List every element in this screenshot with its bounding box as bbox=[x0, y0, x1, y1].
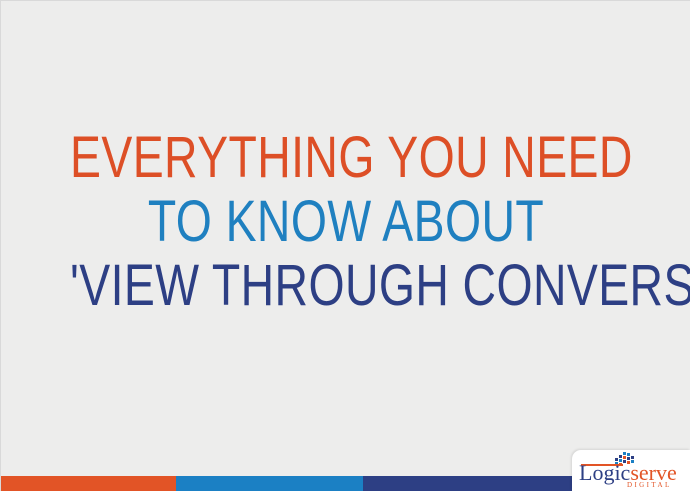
logo-inner: Logicserve DIGITAL bbox=[572, 450, 690, 491]
logicserve-logo: Logicserve DIGITAL bbox=[572, 450, 690, 491]
bar-segment-orange bbox=[1, 476, 176, 491]
bar-segment-blue bbox=[176, 476, 363, 491]
slide-title: EVERYTHING YOU NEED TO KNOW ABOUT 'VIEW … bbox=[1, 127, 690, 317]
presentation-slide: EVERYTHING YOU NEED TO KNOW ABOUT 'VIEW … bbox=[0, 0, 690, 491]
title-line-2: TO KNOW ABOUT bbox=[70, 191, 622, 253]
logo-tagline: DIGITAL bbox=[627, 481, 672, 489]
title-line-3: 'VIEW THROUGH CONVERSIONS' bbox=[70, 255, 622, 317]
logo-word-primary: Logic bbox=[579, 460, 630, 485]
title-line-1: EVERYTHING YOU NEED bbox=[70, 127, 622, 189]
